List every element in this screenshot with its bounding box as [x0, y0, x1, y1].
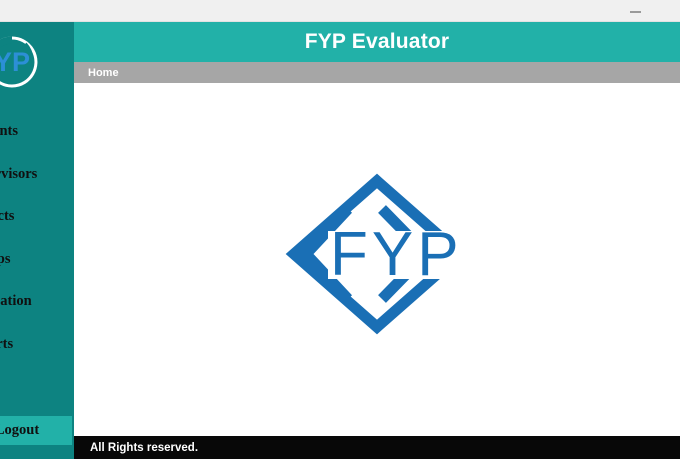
sidebar-item-reports[interactable]: Reports [0, 323, 74, 366]
window-titlebar: ors [0, 0, 680, 22]
sidebar-item-reports-label: Reports [0, 336, 13, 352]
brand-logo: FYP [270, 169, 485, 339]
footer: All Rights reserved. [74, 436, 680, 459]
sidebar-logo: Y P [0, 33, 48, 91]
logout-container: Logout [0, 416, 74, 445]
sidebar: Y P Students Supervisors Projects Groups… [0, 22, 74, 459]
sidebar-item-projects[interactable]: Projects [0, 195, 74, 238]
footer-text: All Rights reserved. [90, 442, 198, 454]
sidebar-item-projects-label: Projects [0, 208, 14, 224]
sidebar-item-evaluation[interactable]: Evaluation [0, 280, 74, 323]
main-region: FYP Evaluator Home [74, 22, 680, 459]
svg-text:Y: Y [0, 47, 12, 77]
nav-link-home[interactable]: Home [88, 67, 119, 79]
sidebar-item-students-label: Students [0, 123, 18, 139]
application-window: ors Y P Students Supervisors Projects [0, 0, 680, 459]
logout-button[interactable]: Logout [0, 416, 72, 445]
minimize-button[interactable] [614, 0, 658, 21]
page-title: FYP Evaluator [305, 30, 450, 54]
app-header: FYP Evaluator [74, 22, 680, 62]
sidebar-item-groups-label: Groups [0, 251, 10, 267]
sidebar-item-groups[interactable]: Groups [0, 238, 74, 281]
sidebar-item-students[interactable]: Students [0, 110, 74, 153]
svg-text:P: P [12, 47, 30, 77]
content-area: FYP [74, 83, 680, 436]
navigation-bar: Home [74, 62, 680, 83]
sidebar-item-supervisors[interactable]: Supervisors [0, 153, 74, 196]
svg-text:FYP: FYP [330, 220, 463, 289]
fyp-circle-logo-icon: Y P [0, 33, 48, 91]
sidebar-item-evaluation-label: Evaluation [0, 293, 32, 309]
fyp-diamond-logo-icon: FYP [270, 169, 485, 339]
sidebar-item-supervisors-label: Supervisors [0, 166, 37, 182]
sidebar-menu: Students Supervisors Projects Groups Eva… [0, 110, 74, 365]
